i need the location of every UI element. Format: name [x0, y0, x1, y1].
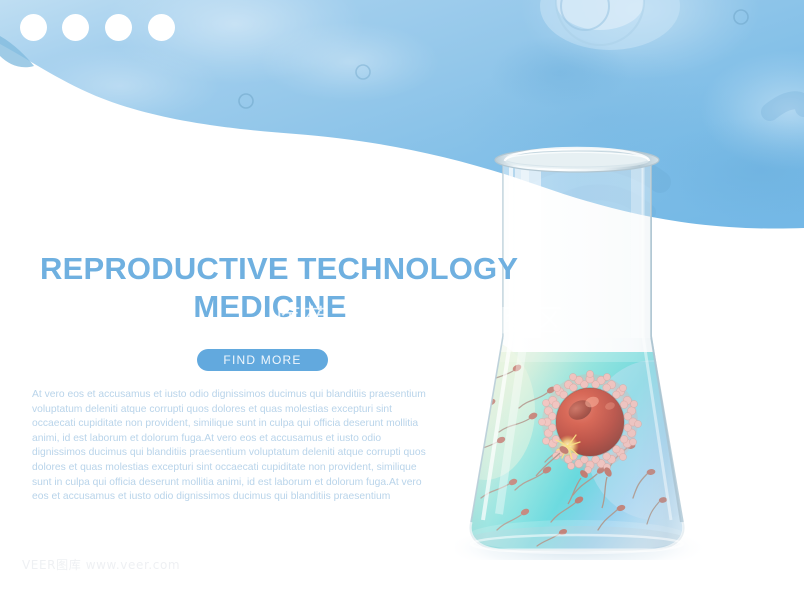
flask-illustration	[455, 140, 720, 560]
headline-line-1: REPRODUCTIVE TECHNOLOGY	[40, 250, 500, 288]
watermark-bottom: VEER图库 www.veer.com	[22, 556, 180, 573]
headline-line-2: MEDICINE	[40, 288, 500, 326]
bubble-dot-3	[105, 14, 132, 41]
find-more-button[interactable]: FIND MORE	[197, 349, 328, 371]
page-title: REPRODUCTIVE TECHNOLOGY MEDICINE	[40, 250, 500, 326]
body-paragraph: At vero eos et accusamus et iusto odio d…	[32, 388, 432, 505]
bubble-dot-1	[20, 14, 47, 41]
bubble-dot-4	[148, 14, 175, 41]
bubble-dot-2	[62, 14, 89, 41]
poster-canvas: REPRODUCTIVE TECHNOLOGY MEDICINE FIND MO…	[0, 0, 804, 590]
